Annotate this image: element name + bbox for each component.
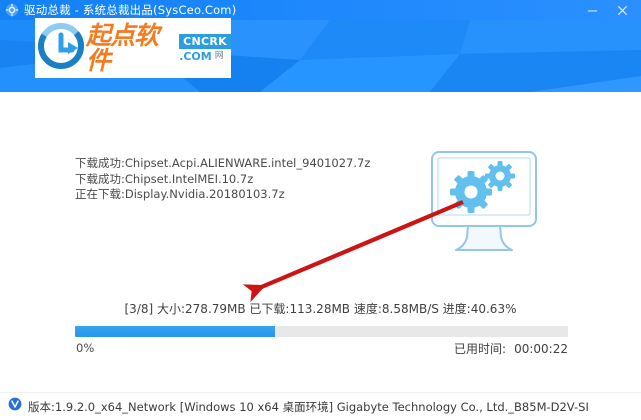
download-progress-fill — [75, 326, 275, 337]
close-button[interactable] — [609, 0, 635, 20]
log-line: 下载成功:Chipset.IntelMEI.10.7z — [75, 172, 405, 188]
minimize-button[interactable] — [579, 0, 605, 20]
elapsed-time-value: 00:00:22 — [514, 342, 568, 356]
watermark-badge-top: CNCRK — [179, 34, 231, 49]
version-status-text: 版本:1.9.2.0_x64_Network [Windows 10 x64 桌… — [28, 399, 589, 415]
download-progress-bar — [75, 326, 568, 337]
minimize-icon — [586, 4, 599, 17]
status-bar: 版本:1.9.2.0_x64_Network [Windows 10 x64 桌… — [0, 392, 641, 420]
app-icon — [5, 3, 19, 17]
elapsed-time-group: 已用时间: 00:00:22 — [454, 340, 568, 357]
watermark-overlay: 起点软件 CNCRK .COM 网 — [35, 18, 231, 78]
close-icon — [616, 4, 629, 17]
watermark-badge-domain: .COM — [179, 51, 212, 62]
driver-downloader-window: 驱动总裁 - 系统总裁出品(SysCeo.Com) — [0, 0, 641, 420]
progress-summary-text: [3/8] 大小:278.79MB 已下载:113.28MB 速度:8.58MB… — [0, 300, 641, 317]
circular-arrow-logo-icon — [37, 22, 85, 75]
log-line: 正在下载:Display.Nvidia.20180103.7z — [75, 187, 405, 203]
watermark-brand: 起点软件 — [86, 23, 175, 73]
download-log-list: 下载成功:Chipset.Acpi.ALIENWARE.intel_940102… — [75, 156, 405, 203]
progress-percent-label: 0% — [76, 341, 94, 355]
watermark-badge-suffix: 网 — [215, 52, 224, 61]
elapsed-time-label: 已用时间: — [454, 340, 506, 357]
watermark-badge: CNCRK .COM 网 — [179, 34, 231, 62]
monitor-with-gears-icon — [418, 142, 564, 266]
window-title: 驱动总裁 - 系统总裁出品(SysCeo.Com) — [24, 2, 236, 18]
title-bar[interactable]: 驱动总裁 - 系统总裁出品(SysCeo.Com) — [0, 0, 641, 20]
version-badge-icon — [8, 397, 22, 416]
log-line: 下载成功:Chipset.Acpi.ALIENWARE.intel_940102… — [75, 156, 405, 172]
